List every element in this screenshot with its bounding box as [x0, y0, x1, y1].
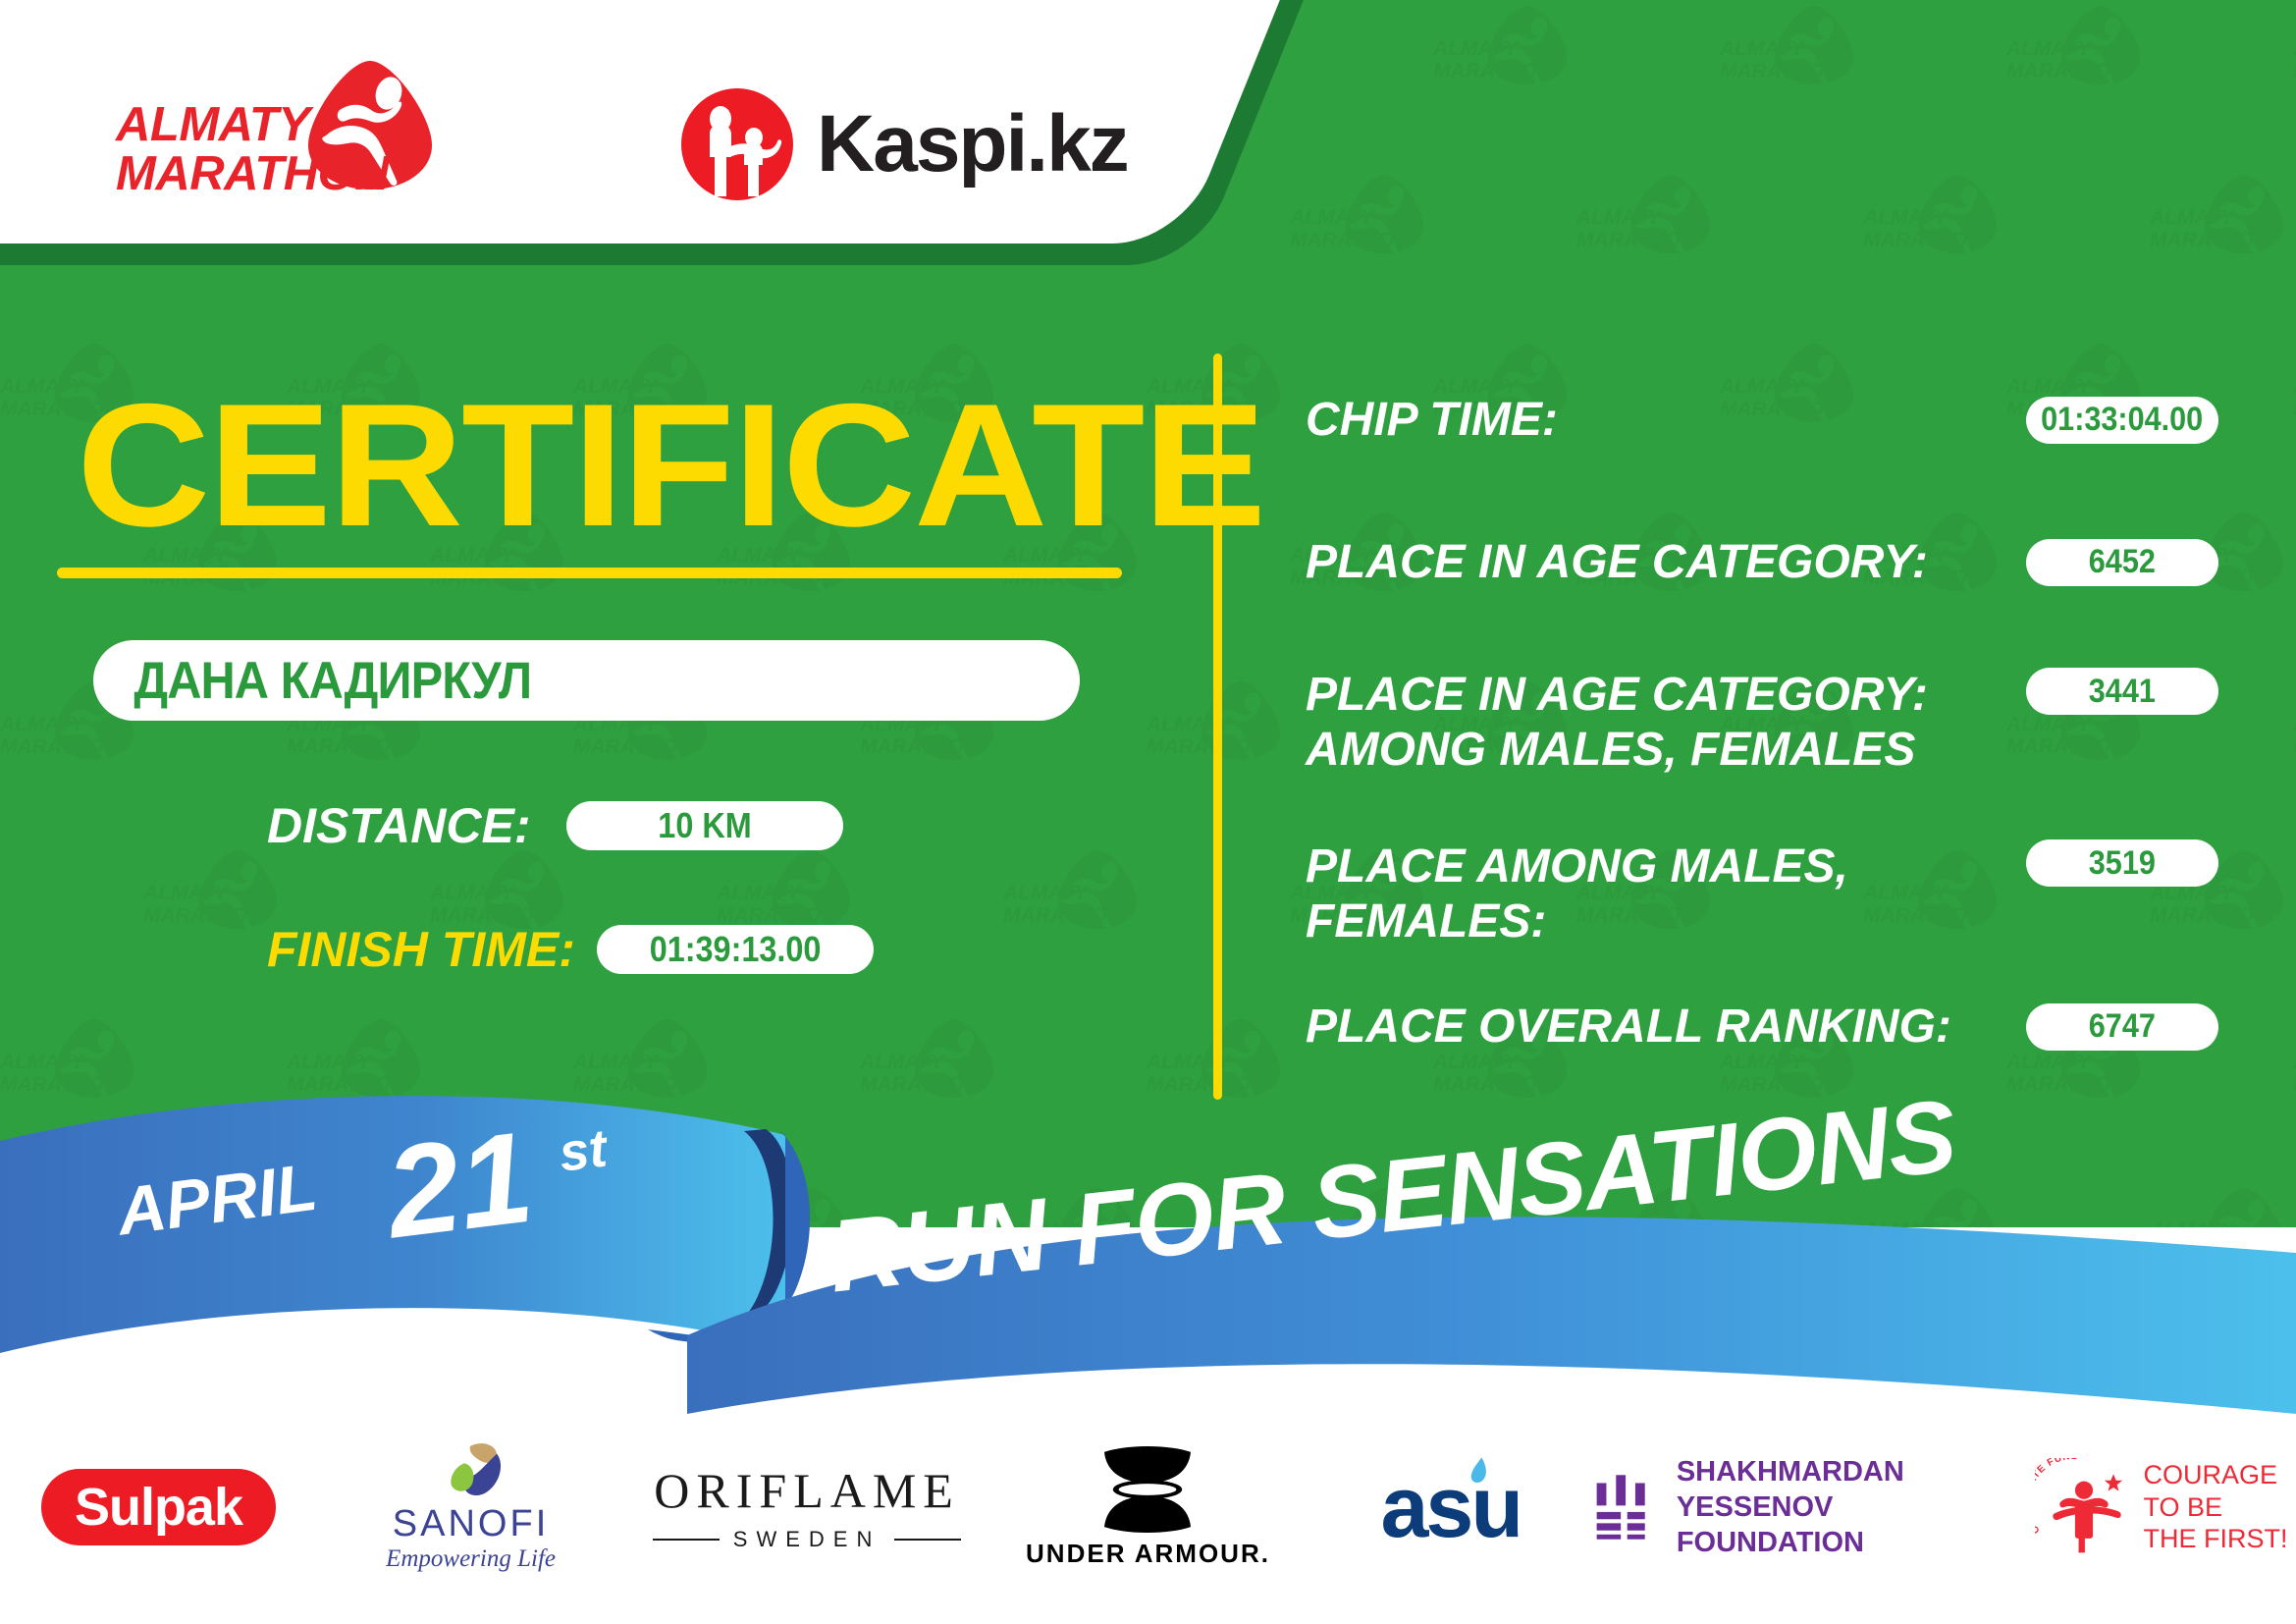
svg-text:ALMATY: ALMATY: [430, 882, 516, 904]
sulpak-wordmark: Sulpak: [75, 1478, 242, 1537]
svg-text:ALMATY: ALMATY: [143, 882, 230, 904]
ribbon-ordinal: st: [556, 1117, 610, 1183]
svg-text:ALMATY: ALMATY: [1576, 206, 1663, 229]
place-among-gender-row: PLACE AMONG MALES, FEMALES: 3519: [1306, 839, 2218, 948]
distance-label: DISTANCE:: [267, 797, 531, 854]
courage-line1: COURAGE: [2143, 1459, 2287, 1491]
svg-text:ALMATY: ALMATY: [2150, 206, 2236, 229]
chip-time-label: CHIP TIME:: [1306, 393, 1558, 448]
svg-text:MARATHON: MARATHON: [2150, 229, 2269, 251]
place-age-category-gender-label: PLACE IN AGE CATEGORY: AMONG MALES, FEMA…: [1306, 668, 1928, 777]
svg-text:MARATHON: MARATHON: [860, 735, 980, 758]
yessenov-wordmark-line2: FOUNDATION: [1677, 1525, 2027, 1560]
place-age-category-gender-label-line2: AMONG MALES, FEMALES: [1306, 723, 1928, 778]
sponsor-yessenov-foundation: SHAKHMARDAN YESSENOV FOUNDATION: [1595, 1424, 2027, 1591]
almaty-marathon-wordmark-line1: ALMATY: [116, 100, 389, 149]
place-overall-label: PLACE OVERALL RANKING:: [1306, 1000, 1951, 1055]
almaty-marathon-logo: ALMATY MARATHON: [116, 59, 440, 201]
svg-text:MARATHON: MARATHON: [1147, 735, 1266, 758]
distance-row: DISTANCE: 10 KM: [267, 797, 843, 854]
finish-time-value: 01:39:13.00: [597, 925, 874, 974]
svg-text:ALMATY: ALMATY: [1863, 206, 1949, 229]
svg-text:MARATHON: MARATHON: [2006, 60, 2126, 82]
svg-text:MARATHON: MARATHON: [1720, 60, 1840, 82]
svg-text:MARATHON: MARATHON: [143, 904, 263, 927]
svg-text:ALMATY: ALMATY: [1003, 882, 1090, 904]
svg-text:ALMATY: ALMATY: [2006, 37, 2093, 60]
sponsor-oriflame: ORIFLAME SWEDEN: [624, 1424, 989, 1591]
sponsor-sulpak: Sulpak: [0, 1424, 317, 1591]
svg-text:MARATHON: MARATHON: [1576, 229, 1696, 251]
svg-text:ALMATY: ALMATY: [1290, 206, 1376, 229]
sanofi-leaf-icon: [428, 1442, 514, 1499]
column-divider: [1213, 353, 1222, 1100]
svg-text:ALMATY: ALMATY: [0, 713, 86, 735]
kaspi-family-circle-icon: [679, 86, 795, 202]
svg-text:MARATHON: MARATHON: [0, 735, 120, 758]
place-overall-row: PLACE OVERALL RANKING: 6747: [1306, 1000, 2218, 1055]
place-among-gender-label-line1: PLACE AMONG MALES,: [1306, 839, 1848, 894]
place-among-gender-value: 3519: [2026, 839, 2218, 887]
svg-text:ALMATY: ALMATY: [0, 375, 86, 398]
sponsor-sanofi: SANOFI Empowering Life: [317, 1424, 624, 1591]
svg-text:ALMATY: ALMATY: [573, 1051, 660, 1073]
svg-text:ALMATY: ALMATY: [287, 1051, 373, 1073]
place-age-category-value: 6452: [2026, 539, 2218, 586]
oriflame-wordmark: ORIFLAME: [654, 1462, 960, 1519]
oriflame-rule-left: [653, 1539, 720, 1541]
oriflame-tagline: SWEDEN: [733, 1527, 881, 1552]
yessenov-wordmark-line1: SHAKHMARDAN YESSENOV: [1677, 1454, 2027, 1526]
chip-time-value: 01:33:04.00: [2026, 397, 2218, 444]
participant-name-field: ДАНА КАДИРКУЛ: [93, 640, 1080, 721]
courage-line2: TO BE: [2143, 1491, 2287, 1524]
title-underline: [57, 568, 1122, 578]
place-age-category-label: PLACE IN AGE CATEGORY:: [1306, 535, 1928, 590]
sponsor-under-armour: UNDER ARMOUR.: [989, 1424, 1307, 1591]
place-overall-value: 6747: [2026, 1003, 2218, 1051]
svg-text:MARATHON: MARATHON: [1003, 904, 1123, 927]
place-age-category-gender-row: PLACE IN AGE CATEGORY: AMONG MALES, FEMA…: [1306, 668, 2218, 777]
sponsor-asu: asu: [1307, 1424, 1595, 1591]
courage-runner-icon: CORPORATE FUND: [2035, 1458, 2133, 1556]
svg-text:ALMATY: ALMATY: [1720, 37, 1806, 60]
sanofi-tagline: Empowering Life: [386, 1545, 556, 1573]
ribbon-day: 21: [379, 1103, 540, 1268]
place-among-gender-label-line2: FEMALES:: [1306, 894, 1848, 949]
svg-text:CORPORATE FUND: CORPORATE FUND: [2035, 1458, 2079, 1536]
place-age-category-row: PLACE IN AGE CATEGORY: 6452: [1306, 535, 2218, 590]
svg-text:ALMATY: ALMATY: [0, 1051, 86, 1073]
svg-text:MARATHON: MARATHON: [1863, 229, 1983, 251]
kaspi-wordmark: Kaspi.kz: [817, 98, 1128, 190]
asu-wordmark: asu: [1380, 1458, 1521, 1555]
sanofi-wordmark: SANOFI: [393, 1503, 549, 1545]
place-age-category-gender-value: 3441: [2026, 668, 2218, 715]
participant-name: ДАНА КАДИРКУЛ: [93, 651, 531, 711]
svg-text:MARATHON: MARATHON: [1290, 229, 1410, 251]
distance-value: 10 KM: [566, 801, 843, 850]
svg-text:MARATHON: MARATHON: [287, 735, 406, 758]
under-armour-wordmark: UNDER ARMOUR.: [1026, 1539, 1270, 1569]
certificate-canvas: ALMATY MARATHON ALMATY MARATHON ALMATY M…: [0, 0, 2296, 1624]
svg-text:ALMATY: ALMATY: [860, 1051, 946, 1073]
oriflame-rule-right: [894, 1539, 961, 1541]
place-age-category-gender-label-line1: PLACE IN AGE CATEGORY:: [1306, 668, 1928, 723]
page-title: CERTIFICATE: [77, 378, 1264, 553]
chip-time-row: CHIP TIME: 01:33:04.00: [1306, 393, 2218, 448]
svg-text:MARATHON: MARATHON: [573, 735, 693, 758]
svg-text:MARATHON: MARATHON: [1433, 60, 1553, 82]
yessenov-bars-icon: [1595, 1471, 1651, 1543]
finish-time-row: FINISH TIME: 01:39:13.00: [267, 921, 874, 978]
svg-text:ALMATY: ALMATY: [1433, 37, 1520, 60]
courage-line3: THE FIRST!: [2143, 1523, 2287, 1555]
kaspi-logo: Kaspi.kz: [679, 86, 1128, 202]
almaty-marathon-wordmark: ALMATY MARATHON: [116, 100, 389, 198]
almaty-marathon-wordmark-line2: MARATHON: [116, 149, 389, 198]
svg-text:ALMATY: ALMATY: [717, 882, 803, 904]
finish-time-label: FINISH TIME:: [267, 921, 575, 978]
under-armour-logo-icon: [1085, 1446, 1210, 1533]
sponsor-strip: Sulpak SANOFI Empowering Life ORIFLAME S…: [0, 1404, 2296, 1610]
place-among-gender-label: PLACE AMONG MALES, FEMALES:: [1306, 839, 1848, 948]
asu-drop-icon: [1465, 1455, 1490, 1490]
sponsor-courage-to-be-the-first: CORPORATE FUND COURAGE TO BE THE FIRST!: [2027, 1424, 2296, 1591]
